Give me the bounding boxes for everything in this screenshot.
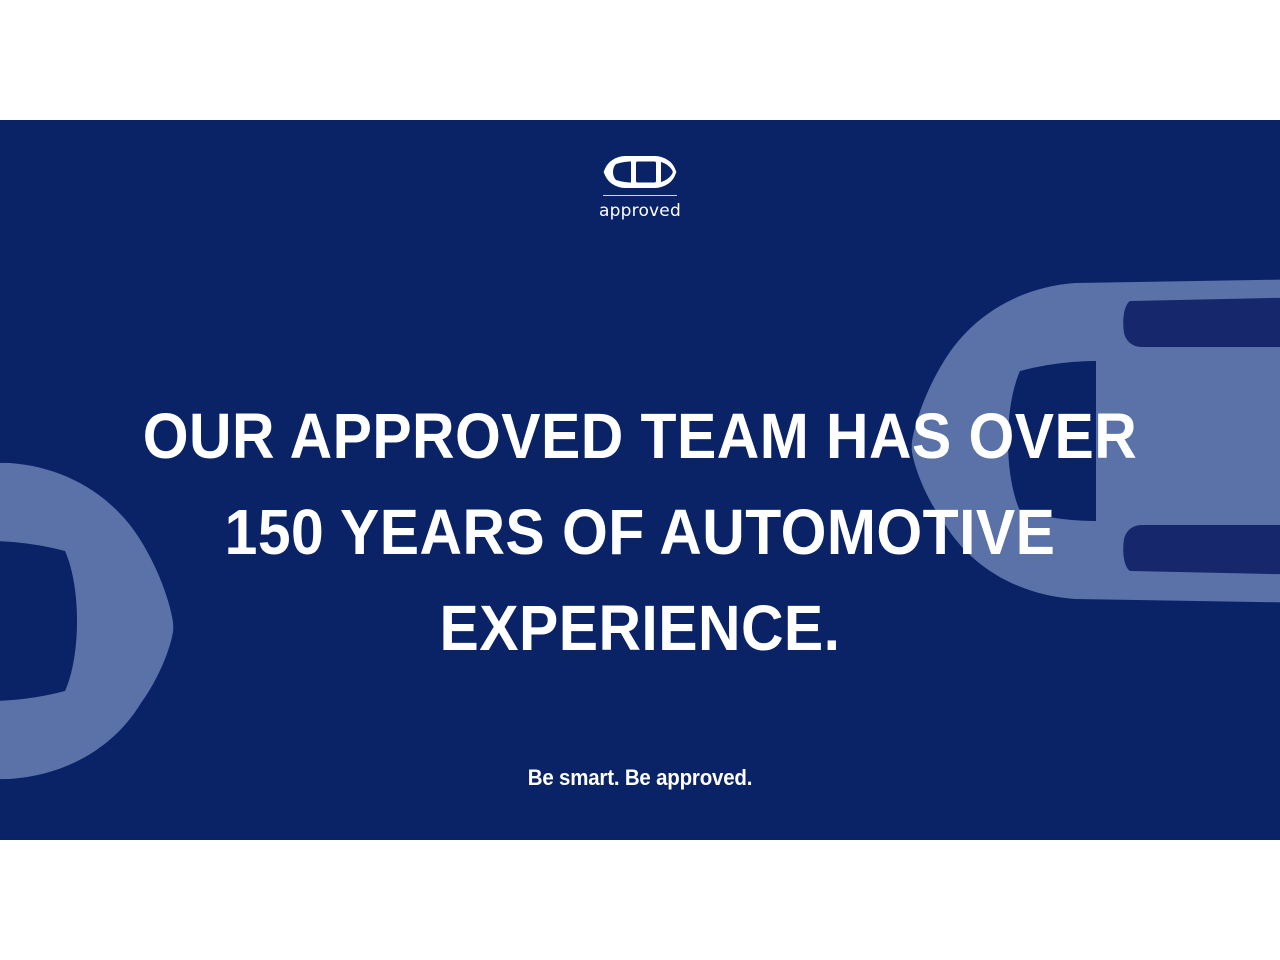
logo-lockup: approved — [0, 155, 1280, 220]
headline-line-2: 150 YEARS OF AUTOMOTIVE — [106, 484, 1173, 580]
headline-line-3: EXPERIENCE. — [106, 580, 1173, 676]
headline: OUR APPROVED TEAM HAS OVER 150 YEARS OF … — [60, 388, 1220, 676]
car-top-view-icon — [603, 155, 677, 189]
tagline: Be smart. Be approved. — [45, 765, 1235, 791]
headline-line-1: OUR APPROVED TEAM HAS OVER — [106, 388, 1173, 484]
logo-divider — [603, 195, 677, 196]
banner-root: approved OUR APPROVED TEAM HAS OVER 150 … — [0, 0, 1280, 960]
logo-wordmark: approved — [599, 203, 681, 220]
banner-panel: approved OUR APPROVED TEAM HAS OVER 150 … — [0, 120, 1280, 840]
